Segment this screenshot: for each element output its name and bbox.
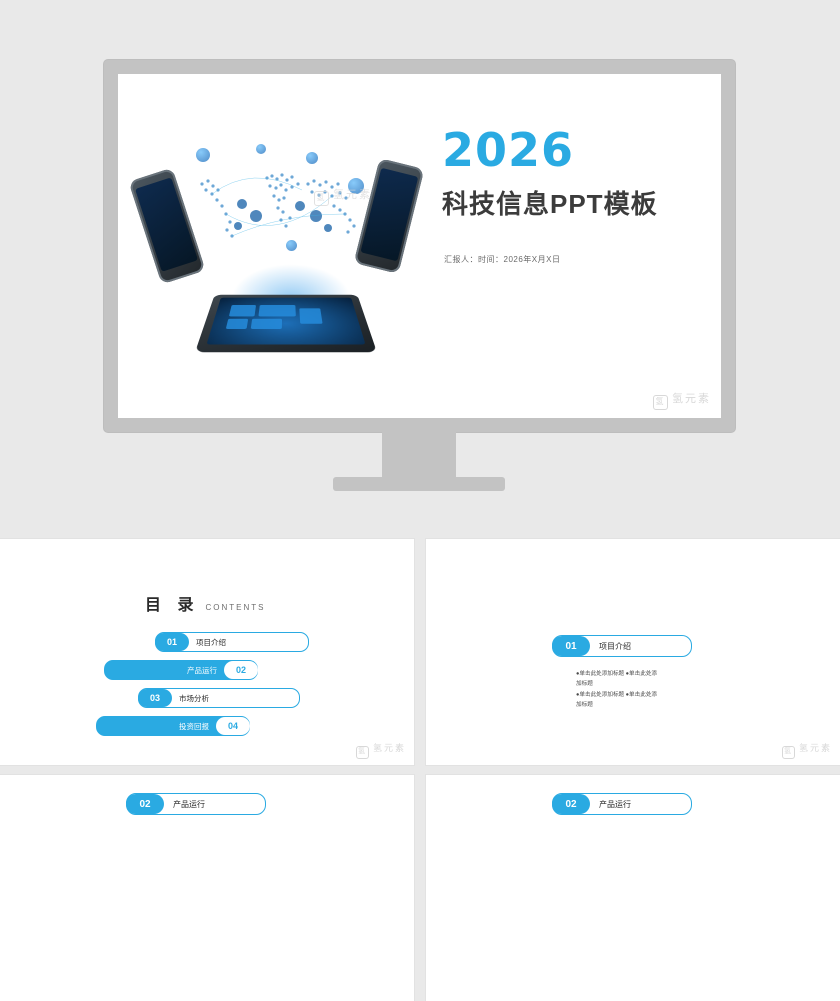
watermark-logo-icon: 氢: [356, 746, 369, 759]
section-title-bar[interactable]: 01 项目介绍: [552, 635, 692, 657]
section-body-line-3: ●单击此处添加标题 ●单击此处添: [576, 690, 766, 700]
toc-item-3[interactable]: 03 市场分析: [138, 688, 300, 708]
slide-thumbnail-grid: 目 录CONTENTS 01 项目介绍 产品运行 02 03 市场分析 投资回报…: [0, 518, 840, 788]
network-bubble: [196, 148, 210, 162]
monitor-neck: [382, 432, 456, 477]
section-label: 项目介绍: [589, 641, 631, 652]
watermark: 氢氢元素: [314, 186, 372, 206]
watermark-logo-icon: 氢: [782, 746, 795, 759]
tech-illustration: [136, 144, 436, 374]
toc-heading-en: CONTENTS: [205, 603, 265, 612]
toc-item-1-number: 01: [155, 633, 189, 651]
toc-item-1[interactable]: 01 项目介绍: [155, 632, 309, 652]
watermark-text: 氢元素: [799, 743, 832, 753]
slide-meta: 汇报人：时间：2026年X月X日: [444, 254, 560, 265]
slide-1-cover[interactable]: 2026 科技信息PPT模板 汇报人：时间：2026年X月X日 氢氢元素 氢氢元…: [118, 74, 721, 418]
watermark: 氢氢元素: [653, 390, 711, 410]
toc-item-1-label: 项目介绍: [188, 637, 234, 648]
toc-item-3-label: 市场分析: [171, 693, 217, 704]
section-body-line-2: 加标题: [576, 679, 766, 689]
slide-5-partial[interactable]: 02 产品运行: [426, 775, 840, 1001]
toc-item-4[interactable]: 投资回报 04: [96, 716, 250, 736]
watermark: 氢氢元素: [782, 741, 832, 759]
monitor-base: [333, 477, 505, 491]
monitor-frame: 2026 科技信息PPT模板 汇报人：时间：2026年X月X日 氢氢元素 氢氢元…: [104, 60, 735, 432]
watermark-text: 氢元素: [373, 743, 406, 753]
world-map-icon: [182, 154, 372, 264]
slide-3-section[interactable]: 01 项目介绍 ●单击此处添加标题 ●单击此处添 加标题 ●单击此处添加标题 ●…: [426, 539, 840, 765]
slide-2-contents[interactable]: 目 录CONTENTS 01 项目介绍 产品运行 02 03 市场分析 投资回报…: [0, 539, 414, 765]
section-label: 产品运行: [163, 799, 205, 810]
network-bubble: [286, 240, 297, 251]
network-bubble: [256, 144, 266, 154]
slide-4-partial[interactable]: 02 产品运行: [0, 775, 414, 1001]
watermark-logo-icon: 氢: [314, 191, 329, 206]
section-number: 02: [126, 794, 164, 814]
section-body-text: ●单击此处添加标题 ●单击此处添 加标题 ●单击此处添加标题 ●单击此处添 加标…: [576, 669, 766, 710]
toc-item-3-number: 03: [138, 689, 172, 707]
toc-item-2-label: 产品运行: [179, 665, 225, 676]
toc-heading: 目 录CONTENTS: [145, 591, 265, 615]
toc-item-2-number: 02: [224, 661, 258, 679]
watermark-text: 氢元素: [672, 393, 711, 405]
watermark-text: 氢元素: [333, 189, 372, 201]
section-title-bar[interactable]: 02 产品运行: [552, 793, 692, 815]
toc-item-2[interactable]: 产品运行 02: [104, 660, 258, 680]
slide-title: 科技信息PPT模板: [442, 184, 658, 221]
toc-item-4-number: 04: [216, 717, 250, 735]
watermark: 氢氢元素: [356, 741, 406, 759]
monitor-preview-area: 2026 科技信息PPT模板 汇报人：时间：2026年X月X日 氢氢元素 氢氢元…: [0, 0, 840, 518]
slide-year: 2026: [442, 123, 574, 177]
section-body-line-1: ●单击此处添加标题 ●单击此处添: [576, 669, 766, 679]
section-label: 产品运行: [589, 799, 631, 810]
toc-heading-cn: 目 录: [145, 597, 199, 614]
section-number: 01: [552, 636, 590, 656]
tablet-icon: [195, 295, 377, 352]
toc-item-4-label: 投资回报: [171, 721, 217, 732]
section-title-bar[interactable]: 02 产品运行: [126, 793, 266, 815]
section-body-line-4: 加标题: [576, 700, 766, 710]
network-bubble: [306, 152, 318, 164]
watermark-logo-icon: 氢: [653, 395, 668, 410]
section-number: 02: [552, 794, 590, 814]
grid-row-gap: [0, 765, 840, 775]
grid-gutter: [414, 518, 426, 788]
